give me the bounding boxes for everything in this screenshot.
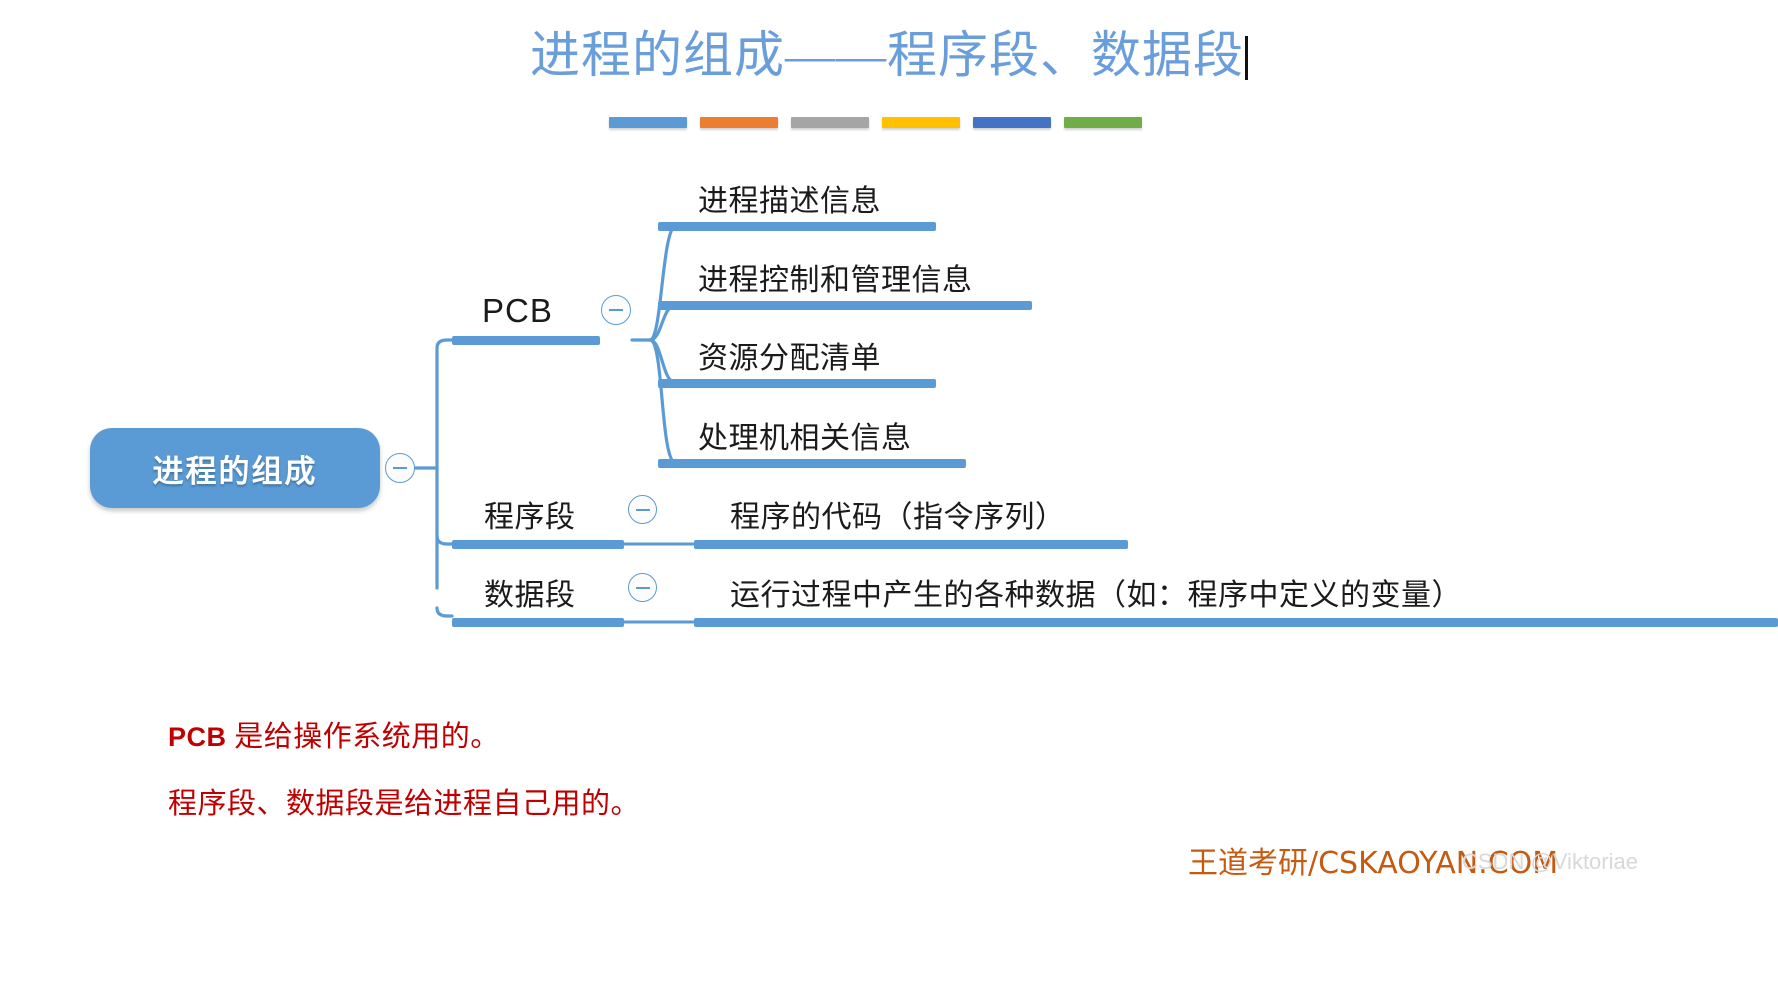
underline-child-3 — [658, 379, 936, 388]
connector-pcb-child-1 — [650, 226, 676, 340]
connector-spine-to-data — [437, 608, 452, 616]
underline-child-2 — [658, 301, 1032, 310]
root-node-label: 进程的组成 — [153, 446, 318, 491]
watermark-label: CSDN @Viktoriae — [1462, 849, 1638, 875]
note-segments-text: 程序段、数据段是给进程自己用的。 — [168, 788, 640, 820]
collapse-toggle-pcb[interactable] — [601, 295, 631, 325]
node-label-data-segment: 数据段 — [484, 570, 576, 614]
underline-data-detail — [694, 618, 1778, 627]
accent-bar-gray — [791, 117, 869, 128]
node-label-process-description: 进程描述信息 — [698, 176, 881, 220]
accent-bar-yellow — [882, 117, 960, 128]
note-pcb-usage: PCB 是给操作系统用的。 — [168, 713, 500, 755]
node-label-program-code: 程序的代码（指令序列） — [730, 492, 1066, 536]
node-label-process-control: 进程控制和管理信息 — [698, 255, 973, 299]
note-pcb-latin: PCB — [168, 722, 227, 752]
node-label-runtime-data: 运行过程中产生的各种数据（如：程序中定义的变量） — [730, 570, 1462, 614]
connector-pcb-child-4 — [650, 340, 676, 463]
accent-bar-green — [1064, 117, 1142, 128]
text-caret — [1245, 36, 1248, 80]
connector-spine-to-pcb — [437, 340, 452, 348]
underline-program-segment — [452, 540, 624, 549]
collapse-toggle-program-segment[interactable] — [628, 495, 657, 524]
underline-data-segment — [452, 618, 624, 627]
collapse-toggle-data-segment[interactable] — [628, 573, 657, 602]
underline-program-code — [694, 540, 1128, 549]
accent-bar-group — [609, 117, 1142, 128]
accent-bar-blue — [609, 117, 687, 128]
connector-spine-to-program — [437, 536, 452, 544]
title-block: 进程的组成——程序段、数据段 — [0, 28, 1778, 83]
underline-pcb — [452, 336, 600, 345]
underline-child-4 — [658, 459, 966, 468]
node-label-cpu-info: 处理机相关信息 — [698, 413, 912, 457]
collapse-toggle-root[interactable] — [385, 453, 415, 483]
node-label-program-segment: 程序段 — [484, 492, 576, 536]
underline-child-1 — [658, 222, 936, 231]
node-label-pcb: PCB — [482, 292, 553, 330]
note-pcb-text: 是给操作系统用的。 — [227, 721, 500, 753]
page-title: 进程的组成——程序段、数据段 — [530, 28, 1244, 83]
note-segments-usage: 程序段、数据段是给进程自己用的。 — [168, 780, 640, 822]
connector-pcb-child-3 — [650, 340, 676, 383]
accent-bar-orange — [700, 117, 778, 128]
node-label-resource-list: 资源分配清单 — [698, 333, 881, 377]
connector-pcb-child-2 — [650, 305, 676, 340]
mindmap-root-node[interactable]: 进程的组成 — [90, 428, 380, 508]
accent-bar-darkblue — [973, 117, 1051, 128]
